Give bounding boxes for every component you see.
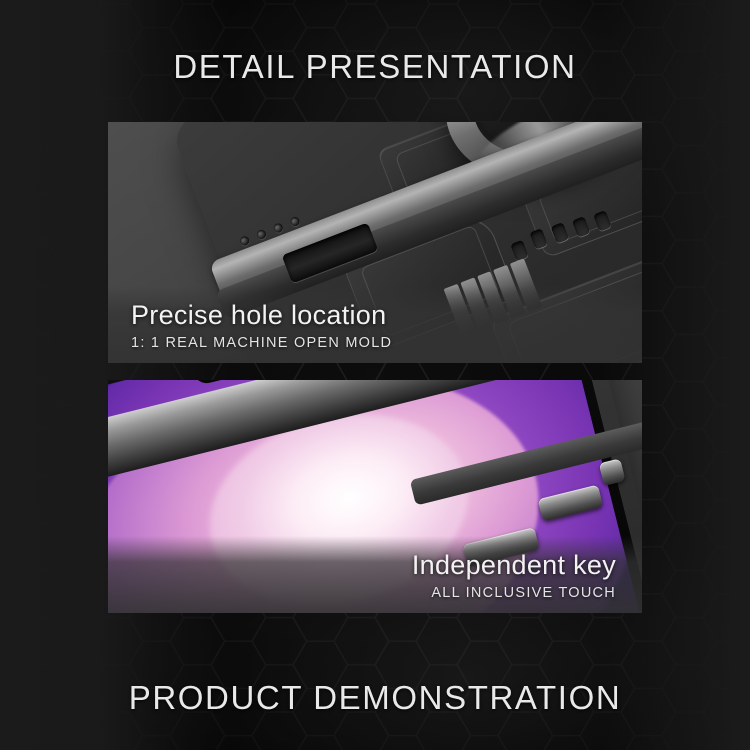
background-right-fade [600,0,750,750]
volume-up-button [538,484,604,521]
panel-independent-key: Independent key ALL INCLUSIVE TOUCH [108,380,642,613]
hexagon-background [0,0,750,750]
caption-title: Independent key [131,550,616,580]
bottom-heading: PRODUCT DEMONSTRATION [0,679,750,717]
caption-title: Precise hole location [131,300,620,330]
product-detail-page: DETAIL PRESENTATION [0,0,750,750]
panel-caption: Independent key ALL INCLUSIVE TOUCH [108,536,642,613]
background-left-fade [0,0,230,750]
top-heading: DETAIL PRESENTATION [0,48,750,86]
caption-subtitle: 1: 1 REAL MACHINE OPEN MOLD [131,335,620,351]
panel-precise-hole: Precise hole location 1: 1 REAL MACHINE … [108,122,642,363]
mute-switch-button [599,458,626,486]
panel-caption: Precise hole location 1: 1 REAL MACHINE … [108,286,642,363]
caption-subtitle: ALL INCLUSIVE TOUCH [131,585,616,601]
